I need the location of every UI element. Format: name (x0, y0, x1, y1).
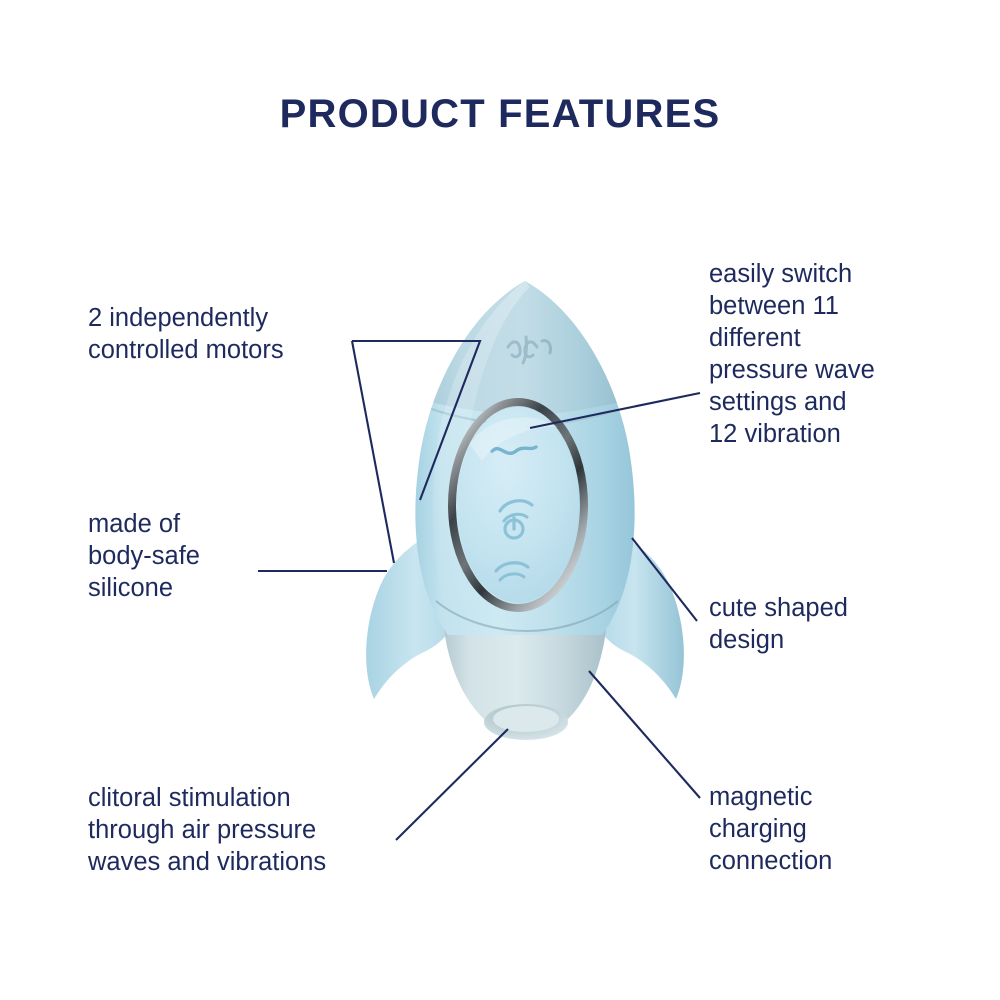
callout-label-settings: easily switch between 11 different press… (709, 258, 949, 450)
control-panel[interactable] (452, 402, 584, 608)
callout-label-clitoral-stimulation: clitoral stimulation through air pressur… (88, 782, 428, 878)
callout-label-motors: 2 independently controlled motors (88, 302, 388, 366)
product-features-infographic: PRODUCT FEATURES (0, 0, 1000, 1000)
product-nozzle-inner (493, 706, 559, 732)
product-illustration (330, 275, 720, 775)
callout-label-magnetic-charging: magnetic charging connection (709, 781, 939, 877)
callout-label-silicone: made of body-safe silicone (88, 508, 348, 604)
page-title: PRODUCT FEATURES (0, 92, 1000, 137)
callout-label-design: cute shaped design (709, 592, 939, 656)
